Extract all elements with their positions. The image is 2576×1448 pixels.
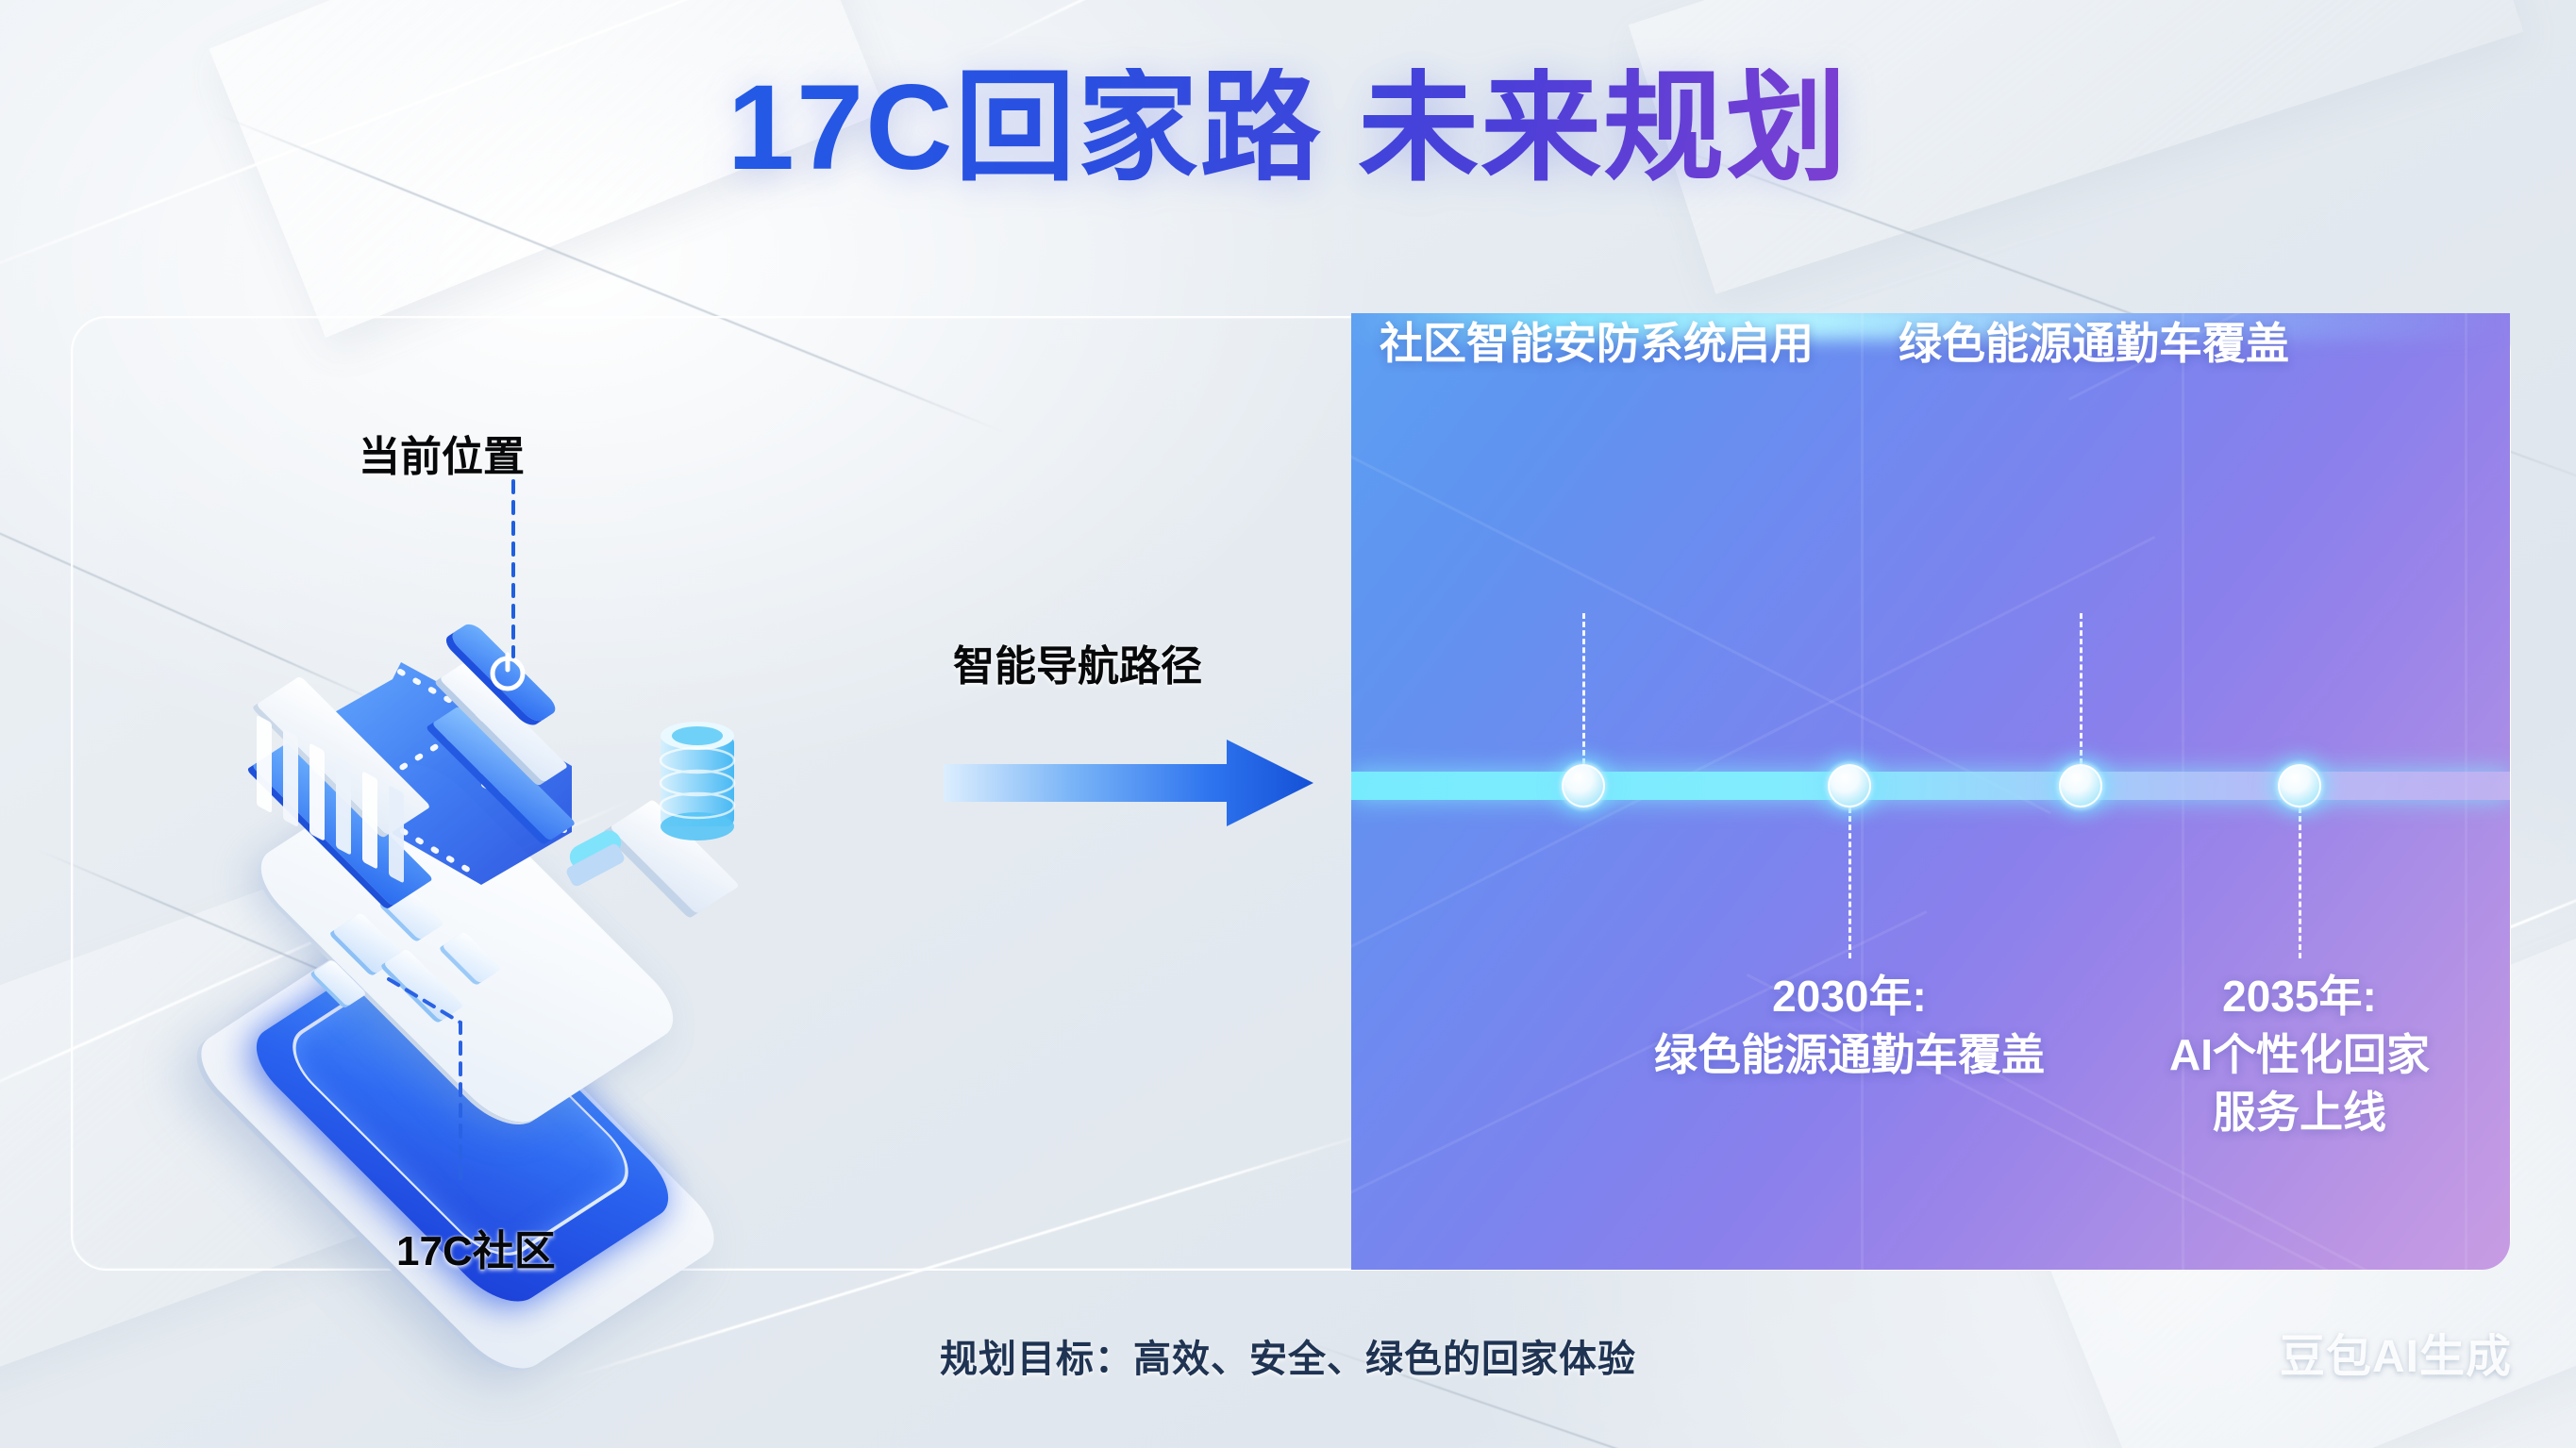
timeline-desc-3: 绿色能源通勤车覆盖	[1899, 315, 2289, 374]
timeline-node-3[interactable]	[2059, 764, 2102, 807]
arrow-right-icon	[944, 740, 1340, 834]
community-label: 17C社区	[396, 1217, 556, 1277]
current-location-leader-line	[491, 460, 547, 668]
panel-pattern-3	[1351, 536, 2155, 967]
timeline-connector-4	[2299, 807, 2301, 958]
timeline-year-2: 2030年:	[1604, 968, 2095, 1026]
timeline-panel: 2025年: 社区智能安防系统启用 2030年: 绿色能源通勤车覆盖 2030年…	[1351, 313, 2510, 1270]
page-title: 17C回家路 未来规划	[0, 68, 2576, 189]
timeline-desc-2: 绿色能源通勤车覆盖	[1604, 1026, 2095, 1085]
timeline-label-3: 2030年: 绿色能源通勤车覆盖	[1899, 313, 2289, 373]
timeline-node-1[interactable]	[1562, 764, 1605, 807]
timeline-label-4: 2035年: AI个性化回家 服务上线	[2101, 968, 2498, 1142]
timeline-node-4[interactable]	[2278, 764, 2321, 807]
timeline-node-2[interactable]	[1828, 764, 1871, 807]
timeline-connector-1	[1582, 613, 1585, 764]
timeline-track	[1351, 772, 2510, 800]
timeline-connector-2	[1848, 807, 1851, 958]
watermark: 豆包AI生成	[2280, 1319, 2512, 1385]
timeline-label-1: 2025年: 社区智能安防系统启用	[1380, 313, 1814, 373]
panel-pattern-1	[1351, 426, 2051, 814]
timeline-desc-1: 社区智能安防系统启用	[1380, 315, 1814, 374]
apartment-fins	[236, 679, 481, 840]
timeline-year-4: 2035年:	[2101, 968, 2498, 1026]
community-leader-line	[368, 972, 538, 1207]
timeline-connector-3	[2080, 613, 2083, 764]
timeline-desc-4: AI个性化回家	[2101, 1026, 2498, 1085]
isometric-city-illustration: 当前位置 17C社区	[85, 349, 1029, 1255]
current-location-label: 当前位置	[359, 423, 525, 483]
navigation-arrow-group: 智能导航路径	[944, 717, 1340, 821]
cylinder-tower-body	[647, 715, 770, 894]
timeline-label-2: 2030年: 绿色能源通勤车覆盖	[1604, 968, 2095, 1084]
timeline-desc-4-line2: 服务上线	[2101, 1084, 2498, 1142]
nav-path-label: 智能导航路径	[953, 632, 1202, 692]
vehicle-capsule	[553, 821, 657, 896]
footer-caption: 规划目标：高效、安全、绿色的回家体验	[0, 1328, 2576, 1383]
